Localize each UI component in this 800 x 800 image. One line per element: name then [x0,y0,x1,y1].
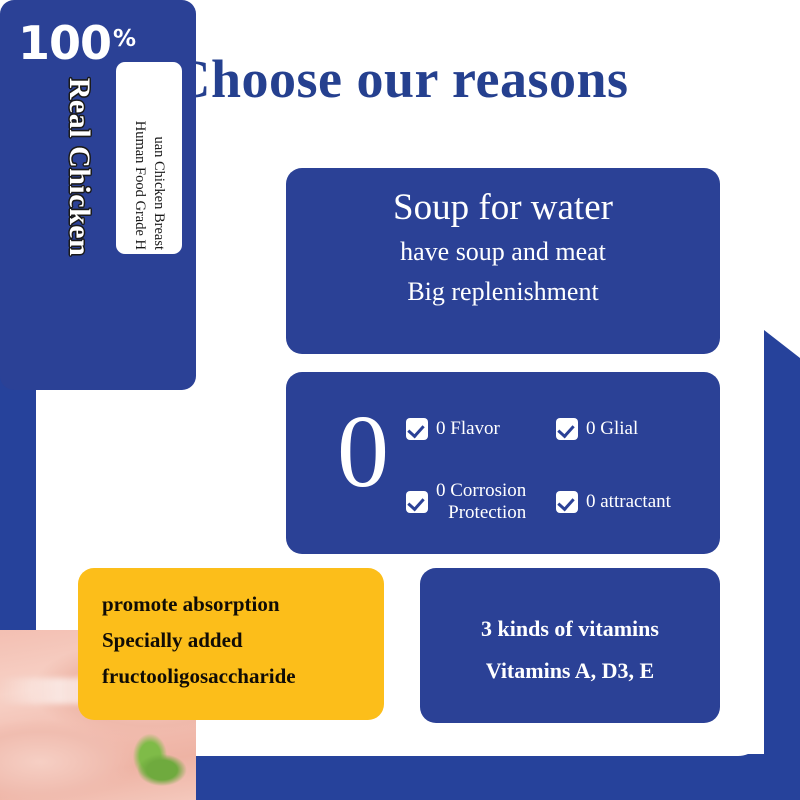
percent-number: 100 [18,22,111,64]
real-chicken-claim: Real Chicken [62,62,96,272]
zero-additives-card[interactable]: 0 0 Flavor 0 Glial 0 Corrosion Protectio… [286,372,720,554]
absorption-line-3: fructooligosaccharide [102,658,384,694]
soup-card-line-2: Big replenishment [286,272,720,312]
cards-container: 100 % Real Chicken uan Chicken Breast Hu… [0,0,800,800]
percent-badge: 100 % [18,22,136,64]
vitamins-line-1: 3 kinds of vitamins [420,608,720,650]
checkbox-checked-icon[interactable] [556,491,578,513]
grade-line-1: uan Chicken Breast [149,62,168,250]
zero-claim-corrosion-line-2: Protection [448,502,526,523]
food-grade-label-text: uan Chicken Breast Human Food Grade H [116,62,182,254]
soup-for-water-card[interactable]: Soup for water have soup and meat Big re… [286,168,720,354]
vitamins-card[interactable]: 3 kinds of vitamins Vitamins A, D3, E [420,568,720,723]
zero-claim-corrosion-label: 0 Corrosion Protection [436,480,526,524]
zero-claims-grid: 0 Flavor 0 Glial 0 Corrosion Protection … [406,392,706,538]
absorption-line-1: promote absorption [102,586,384,622]
absorption-line-2: Specially added [102,622,384,658]
zero-claim-flavor[interactable]: 0 Flavor [406,392,556,465]
food-grade-label: uan Chicken Breast Human Food Grade H [116,62,182,254]
checkbox-checked-icon[interactable] [406,418,428,440]
percent-symbol: % [113,26,136,52]
infographic-poster: Choose our reasons 100 % Real Chicken ua… [0,0,800,800]
absorption-card[interactable]: promote absorption Specially added fruct… [78,568,384,720]
zero-claim-corrosion[interactable]: 0 Corrosion Protection [406,465,556,538]
soup-card-line-1: have soup and meat [286,232,720,272]
checkbox-checked-icon[interactable] [556,418,578,440]
checkbox-checked-icon[interactable] [406,491,428,513]
zero-claim-corrosion-line-1: 0 Corrosion [436,480,526,501]
zero-claim-attractant[interactable]: 0 attractant [556,465,706,538]
zero-claim-attractant-label: 0 attractant [586,491,671,513]
zero-claim-flavor-label: 0 Flavor [436,418,500,440]
grade-line-2: Human Food Grade H [130,62,149,250]
zero-claim-glial-label: 0 Glial [586,418,638,440]
vitamins-line-2: Vitamins A, D3, E [420,650,720,692]
zero-claim-glial[interactable]: 0 Glial [556,392,706,465]
soup-card-title: Soup for water [286,184,720,232]
zero-big-number: 0 [318,400,408,504]
product-card-real-chicken[interactable]: 100 % Real Chicken uan Chicken Breast Hu… [0,0,196,390]
